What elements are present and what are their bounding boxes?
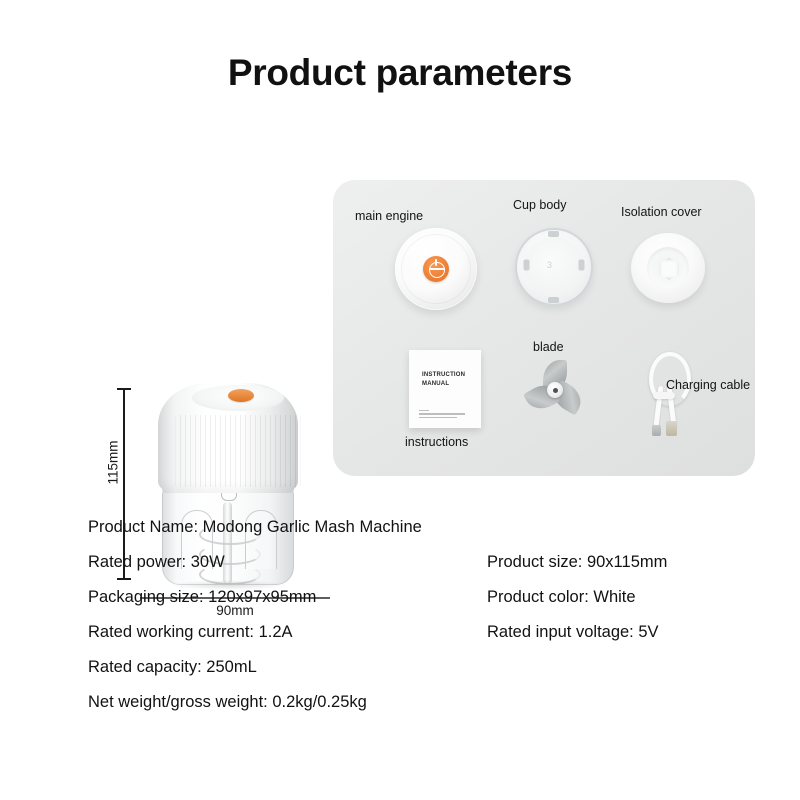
- spec-product-color: Product color: White: [487, 588, 636, 607]
- product-parameters-page: Product parameters 115mm 90mm: [0, 0, 800, 800]
- cup-body-notch: [548, 231, 559, 237]
- manual-title-line-1: INSTRUCTION: [422, 372, 465, 378]
- part-label-charging-cable: Charging cable: [666, 378, 750, 392]
- cup-hook: [221, 492, 237, 501]
- blade-hub: [547, 382, 563, 398]
- part-label-cup-body: Cup body: [513, 198, 567, 212]
- spec-list: Product Name: Modong Garlic Mash Machine…: [0, 518, 800, 768]
- power-glyph-icon: [429, 262, 445, 278]
- spec-packaging-size: Packaging size: 120x97x95mm: [88, 588, 316, 607]
- power-button-icon: [228, 389, 254, 402]
- cup-body-inner: [524, 237, 584, 297]
- part-label-blade: blade: [533, 340, 564, 354]
- cup-body-capacity-mark: 3: [547, 260, 552, 270]
- height-dimension-label: 115mm: [106, 440, 121, 484]
- spec-rated-power: Rated power: 30W: [88, 553, 225, 572]
- cup-body-notch: [548, 297, 559, 303]
- spec-product-size: Product size: 90x115mm: [487, 553, 667, 572]
- parts-diagram-panel: main engine Cup body 3 Isolation cover: [333, 180, 755, 476]
- usb-plug-icon: [666, 421, 677, 436]
- micro-usb-plug-icon: [652, 425, 661, 436]
- spec-product-name: Product Name: Modong Garlic Mash Machine: [88, 518, 422, 537]
- page-title: Product parameters: [0, 52, 800, 94]
- cup-body-notch: [524, 260, 530, 271]
- part-label-isolation-cover: Isolation cover: [621, 205, 702, 219]
- main-engine-power-button-icon: [423, 256, 449, 282]
- lid-ribs: [170, 415, 306, 487]
- manual-title-line-2: MANUAL: [422, 381, 449, 387]
- spec-net-gross-weight: Net weight/gross weight: 0.2kg/0.25kg: [88, 693, 367, 712]
- manual-footer-lines: [419, 410, 471, 420]
- spec-rated-input-voltage: Rated input voltage: 5V: [487, 623, 659, 642]
- chopper-lid: [158, 383, 298, 493]
- spec-rated-working-current: Rated working current: 1.2A: [88, 623, 293, 642]
- part-instruction-manual: INSTRUCTION MANUAL: [409, 350, 481, 428]
- cable-tie: [653, 392, 675, 399]
- part-cup-body: 3: [515, 228, 593, 306]
- part-main-engine: [395, 228, 477, 310]
- part-label-main-engine: main engine: [355, 209, 423, 223]
- cup-body-notch: [579, 260, 585, 271]
- spec-rated-capacity: Rated capacity: 250mL: [88, 658, 257, 677]
- part-charging-cable: [641, 352, 697, 438]
- product-photo-block: 115mm 90mm: [50, 185, 300, 440]
- part-isolation-cover: [631, 233, 705, 303]
- part-label-instructions: instructions: [405, 435, 468, 449]
- height-dimension-cap-top: [117, 388, 131, 390]
- part-blade: [523, 358, 587, 422]
